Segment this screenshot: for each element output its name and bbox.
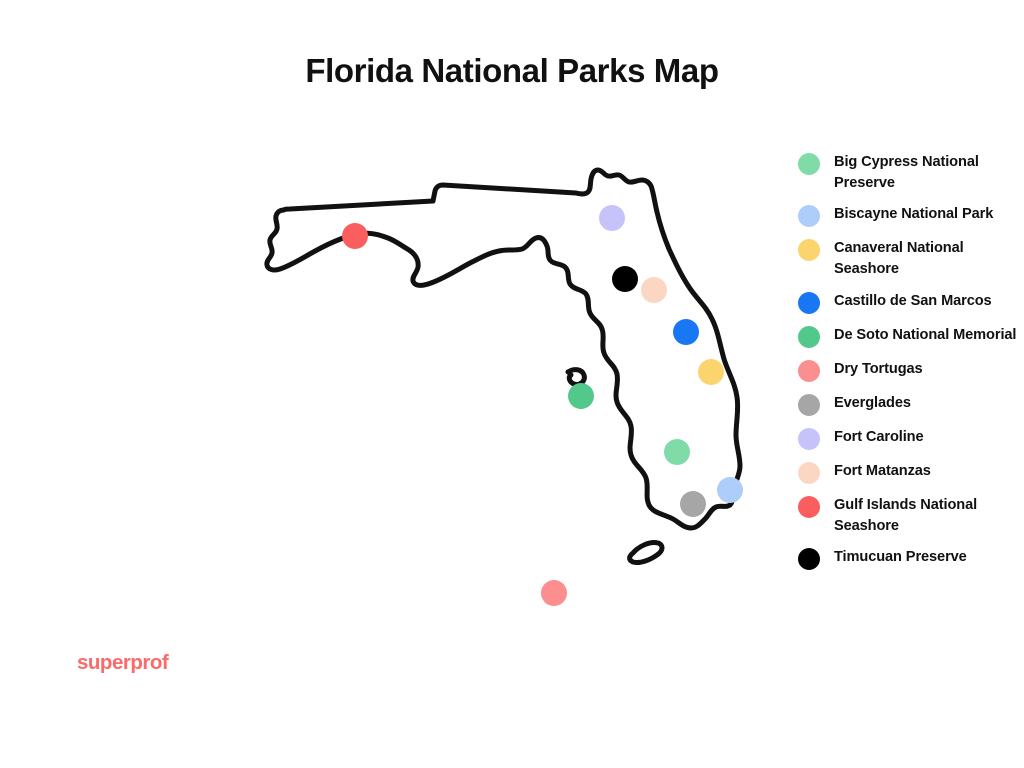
map-dot-timucuan[interactable] [612, 266, 638, 292]
legend-item-gulf-islands[interactable]: Gulf Islands National Seashore [798, 495, 1024, 536]
legend-item-canaveral[interactable]: Canaveral National Seashore [798, 238, 1024, 279]
legend-item-label: Fort Caroline [834, 427, 924, 448]
map-dot-castillo-de-san-marcos[interactable] [673, 319, 699, 345]
legend-item-label: Canaveral National Seashore [834, 238, 1024, 279]
map-legend: Big Cypress National Preserve Biscayne N… [798, 152, 1024, 581]
legend-item-label: Timucuan Preserve [834, 547, 967, 568]
legend-item-fort-matanzas[interactable]: Fort Matanzas [798, 461, 1024, 484]
legend-swatch-icon [798, 239, 820, 261]
legend-item-de-soto[interactable]: De Soto National Memorial [798, 325, 1024, 348]
map-dot-biscayne[interactable] [717, 477, 743, 503]
legend-swatch-icon [798, 428, 820, 450]
legend-item-label: Dry Tortugas [834, 359, 923, 380]
legend-item-fort-caroline[interactable]: Fort Caroline [798, 427, 1024, 450]
legend-swatch-icon [798, 205, 820, 227]
florida-mainland-path [267, 170, 740, 528]
map-dot-everglades[interactable] [680, 491, 706, 517]
florida-keys-path [630, 543, 662, 563]
legend-item-everglades[interactable]: Everglades [798, 393, 1024, 416]
legend-swatch-icon [798, 292, 820, 314]
map-dot-fort-matanzas[interactable] [641, 277, 667, 303]
legend-item-label: Biscayne National Park [834, 204, 993, 225]
legend-item-label: Gulf Islands National Seashore [834, 495, 1024, 536]
map-dot-de-soto[interactable] [568, 383, 594, 409]
legend-item-label: De Soto National Memorial [834, 325, 1016, 346]
legend-item-big-cypress[interactable]: Big Cypress National Preserve [798, 152, 1024, 193]
page-title: Florida National Parks Map [0, 52, 1024, 90]
legend-swatch-icon [798, 394, 820, 416]
legend-item-timucuan[interactable]: Timucuan Preserve [798, 547, 1024, 570]
map-dot-canaveral[interactable] [698, 359, 724, 385]
legend-item-biscayne[interactable]: Biscayne National Park [798, 204, 1024, 227]
superprof-logo: superprof [77, 651, 168, 675]
florida-state-outline [240, 150, 780, 620]
legend-swatch-icon [798, 496, 820, 518]
legend-swatch-icon [798, 462, 820, 484]
map-panel [240, 150, 780, 620]
map-dot-big-cypress[interactable] [664, 439, 690, 465]
legend-swatch-icon [798, 360, 820, 382]
legend-item-label: Castillo de San Marcos [834, 291, 992, 312]
legend-item-dry-tortugas[interactable]: Dry Tortugas [798, 359, 1024, 382]
legend-swatch-icon [798, 326, 820, 348]
legend-item-castillo-de-san-marcos[interactable]: Castillo de San Marcos [798, 291, 1024, 314]
legend-item-label: Everglades [834, 393, 911, 414]
legend-item-label: Big Cypress National Preserve [834, 152, 1024, 193]
map-dot-dry-tortugas[interactable] [541, 580, 567, 606]
legend-swatch-icon [798, 153, 820, 175]
legend-item-label: Fort Matanzas [834, 461, 931, 482]
legend-swatch-icon [798, 548, 820, 570]
map-dot-fort-caroline[interactable] [599, 205, 625, 231]
map-dot-gulf-islands[interactable] [342, 223, 368, 249]
